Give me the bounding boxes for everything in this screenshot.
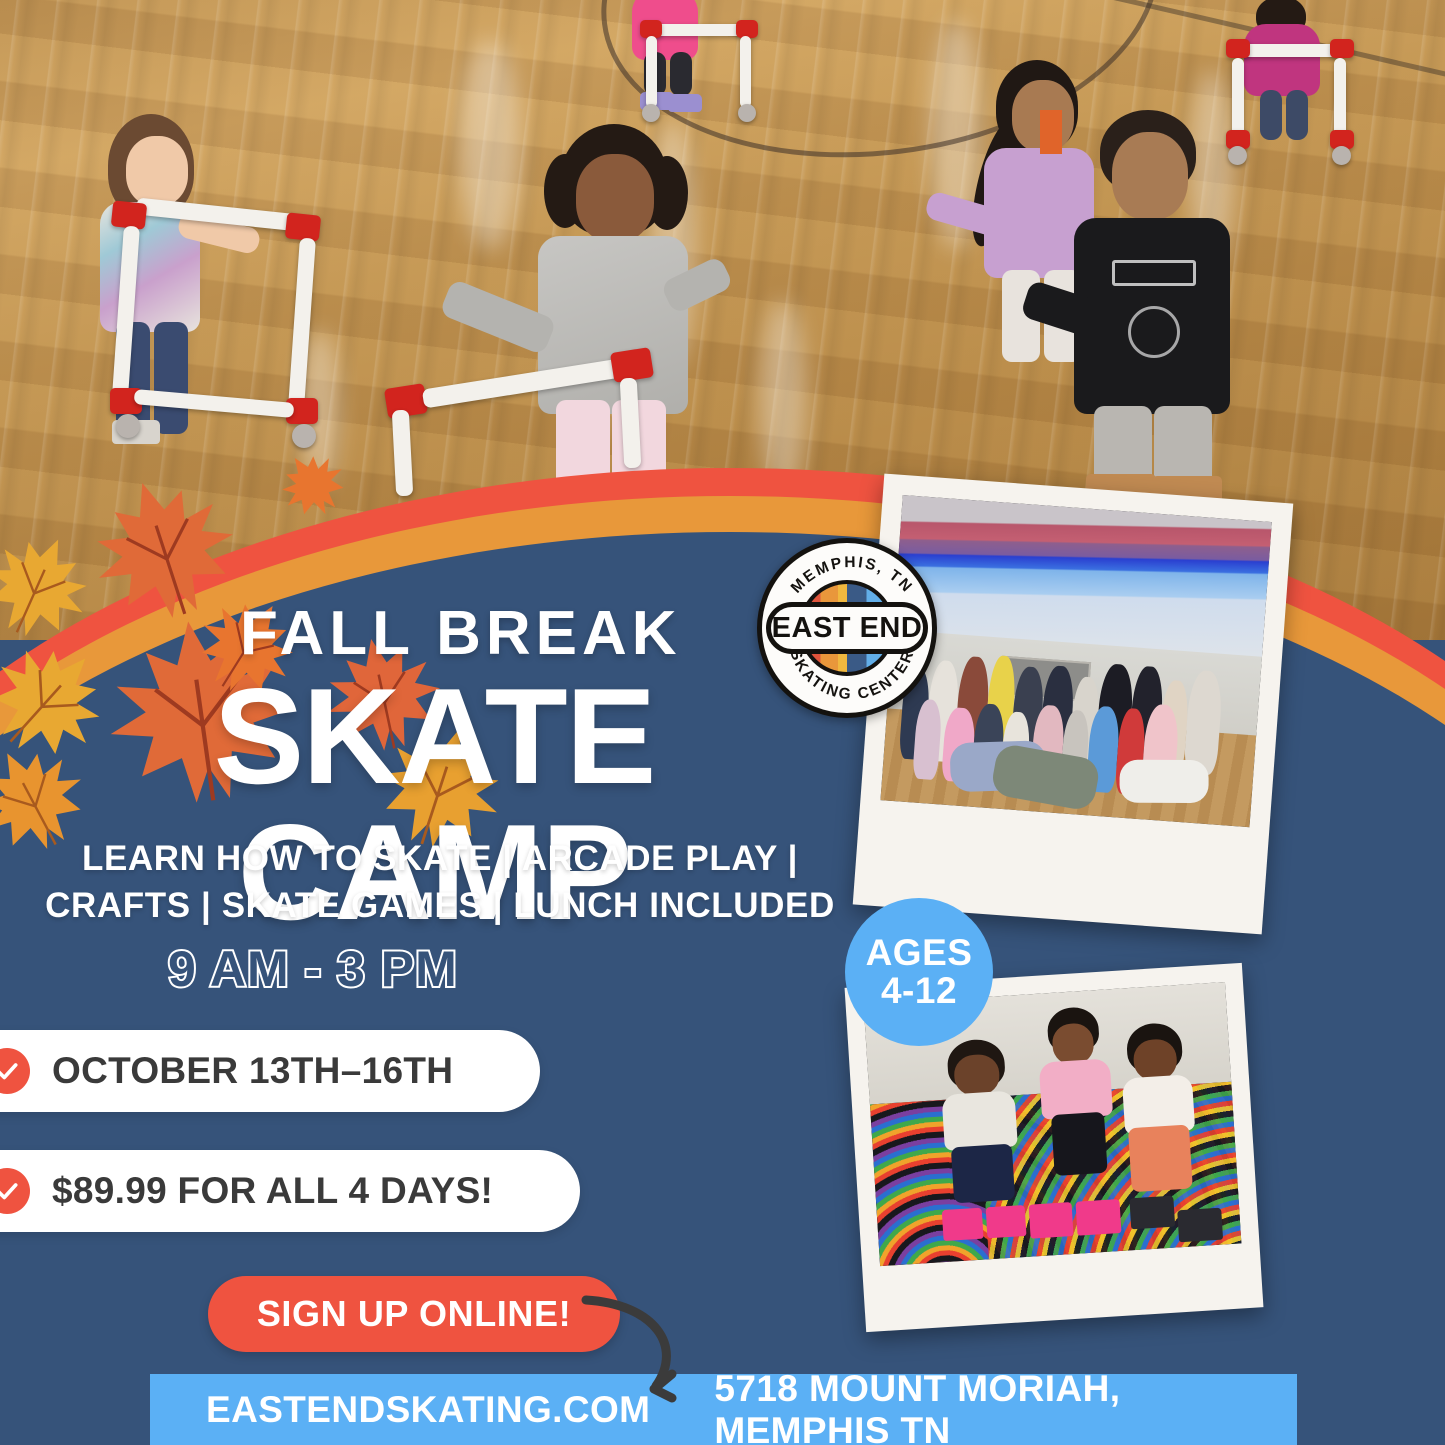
features-list: LEARN HOW TO SKATE | ARCADE PLAY | CRAFT… [40, 836, 840, 929]
floor-shine [760, 300, 806, 500]
logo-bottom-arc-text: SKATING CENTER [786, 647, 918, 703]
feature-line-1: LEARN HOW TO SKATE | ARCADE PLAY | [40, 836, 840, 883]
child-figure [924, 1036, 1037, 1231]
kid-figure [1040, 110, 1270, 510]
dates-label: OCTOBER 13TH–16TH [52, 1050, 453, 1092]
pvc-skate-trainer [108, 198, 338, 448]
eyebrow-heading: FALL BREAK [240, 598, 682, 669]
east-end-logo: MEMPHIS, TN SKATING CENTER EAST END [757, 538, 937, 718]
check-circle-icon [0, 1048, 30, 1094]
logo-top-arc-text: MEMPHIS, TN [788, 554, 916, 597]
shoe [1178, 1208, 1223, 1242]
sign-up-label: SIGN UP ONLINE! [257, 1293, 571, 1335]
price-pill: $89.99 FOR ALL 4 DAYS! [0, 1150, 580, 1232]
sign-up-button[interactable]: SIGN UP ONLINE! [208, 1276, 620, 1352]
child-figure [1104, 1020, 1214, 1225]
dates-pill: OCTOBER 13TH–16TH [0, 1030, 540, 1112]
ages-label-line2: 4-12 [881, 972, 957, 1010]
feature-line-2: CRAFTS | SKATE GAMES | LUNCH INCLUDED [40, 883, 840, 930]
pvc-skate-trainer [1226, 40, 1356, 160]
shoe [1130, 1195, 1175, 1229]
check-circle-icon [0, 1168, 30, 1214]
flyer-poster: AGES 4-12 [0, 0, 1445, 1445]
curved-arrow-icon [580, 1290, 710, 1410]
ages-label-line1: AGES [866, 934, 973, 972]
address-text: 5718 MOUNT MORIAH, MEMPHIS TN [714, 1368, 1297, 1445]
footer-bar: EASTENDSKATING.COM 5718 MOUNT MORIAH, ME… [150, 1374, 1297, 1445]
ages-badge: AGES 4-12 [845, 898, 993, 1046]
roller-skate [985, 1205, 1027, 1239]
hours-text: 9 AM - 3 PM [168, 940, 458, 998]
logo-name-pill: EAST END [766, 602, 928, 654]
logo-name-text: EAST END [772, 612, 923, 645]
roller-skate [1076, 1199, 1121, 1236]
pvc-skate-trainer [640, 20, 760, 130]
roller-skate [942, 1207, 984, 1241]
pvc-skate-trainer [378, 350, 688, 510]
roller-skate [1029, 1202, 1074, 1239]
price-label: $89.99 FOR ALL 4 DAYS! [52, 1170, 493, 1212]
